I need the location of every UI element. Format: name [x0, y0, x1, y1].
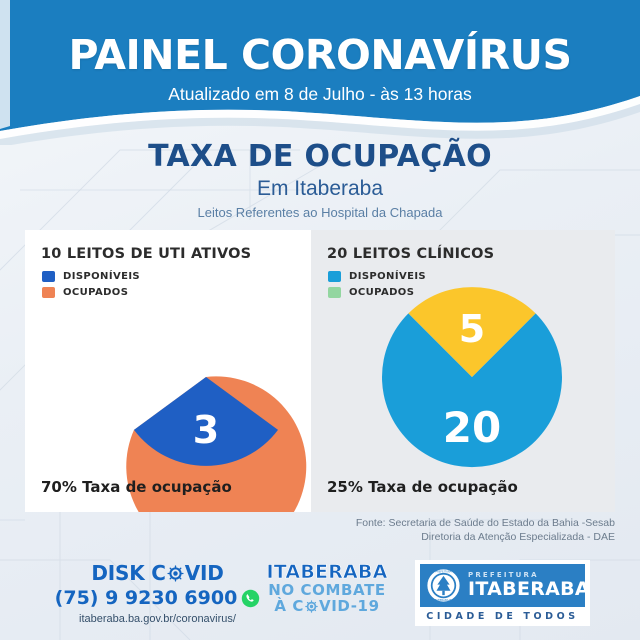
svg-text:ITABERABA-BA: ITABERABA-BA	[434, 598, 453, 602]
section-title: TAXA DE OCUPAÇÃO	[0, 140, 640, 174]
charts-row: 10 LEITOS DE UTI ATIVOS DISPONÍVEIS OCUP…	[25, 230, 615, 512]
pie-label-ocupados: 7	[193, 317, 219, 361]
disk-covid-phone[interactable]: (75) 9 9230 6900	[50, 584, 265, 609]
combate-line-3: À C VID-19	[252, 598, 402, 614]
pie-label-disponiveis: 20	[443, 403, 501, 452]
card-clinicos-rate: 25% Taxa de ocupação	[327, 478, 518, 496]
source-line-2: Diretoria da Atenção Especializada - DAE	[356, 530, 615, 544]
disk-covid-title: DISK C VID	[50, 562, 265, 584]
source-line-1: Fonte: Secretaria de Saúde do Estado da …	[356, 516, 615, 530]
footer: DISK C VID	[0, 552, 640, 640]
prefeitura-seal-icon: PREFEITURA ITABERABA-BA	[426, 568, 461, 603]
section-city: Em Itaberaba	[0, 174, 640, 202]
disk-covid-url[interactable]: itaberaba.ba.gov.br/coronavirus/	[50, 609, 265, 626]
svg-text:PREFEITURA: PREFEITURA	[436, 570, 452, 574]
prefeitura-tagline: CIDADE DE TODOS	[420, 607, 585, 623]
prefeitura-logo: PREFEITURA ITABERABA-BA PREFEITURA ITABE…	[415, 560, 590, 626]
card-uti: 10 LEITOS DE UTI ATIVOS DISPONÍVEIS OCUP…	[25, 230, 311, 512]
virus-icon	[167, 565, 184, 582]
pie-chart-uti: 7 3	[25, 230, 311, 512]
combate-line-2: NO COMBATE	[252, 582, 402, 598]
update-timestamp: Atualizado em 8 de Julho - às 13 horas	[0, 77, 640, 104]
disk-covid-phone-number: (75) 9 9230 6900	[55, 587, 238, 609]
poster: PAINEL CORONAVÍRUS Atualizado em 8 de Ju…	[0, 0, 640, 640]
combate-line-3-before: À C	[274, 598, 304, 614]
combate-block: ITABERABA NO COMBATE À C	[252, 562, 402, 614]
card-clinicos: 20 LEITOS CLÍNICOS DISPONÍVEIS OCUPADOS …	[311, 230, 615, 512]
disk-covid-title-before: DISK C	[91, 562, 165, 584]
pie-label-disponiveis: 3	[193, 408, 219, 452]
disk-covid-block: DISK C VID	[50, 562, 265, 626]
card-uti-rate: 70% Taxa de ocupação	[41, 478, 232, 496]
title-block: TAXA DE OCUPAÇÃO Em Itaberaba Leitos Ref…	[0, 140, 640, 221]
pie-chart-clinicos: 5 20	[311, 230, 615, 512]
pie-label-ocupados: 5	[459, 307, 485, 351]
prefeitura-wordmark: PREFEITURA ITABERABA	[468, 572, 590, 599]
combate-line-3-after: VID-19	[319, 598, 380, 614]
source-note: Fonte: Secretaria de Saúde do Estado da …	[356, 516, 615, 544]
page-title: PAINEL CORONAVÍRUS	[0, 0, 640, 77]
section-note: Leitos Referentes ao Hospital da Chapada	[0, 202, 640, 221]
virus-icon	[305, 600, 318, 613]
header: PAINEL CORONAVÍRUS Atualizado em 8 de Ju…	[0, 0, 640, 140]
prefeitura-name: ITABERABA	[468, 580, 590, 599]
prefeitura-bar: PREFEITURA ITABERABA-BA PREFEITURA ITABE…	[420, 564, 585, 607]
combate-line-1: ITABERABA	[252, 562, 402, 582]
disk-covid-title-after: VID	[185, 562, 224, 584]
